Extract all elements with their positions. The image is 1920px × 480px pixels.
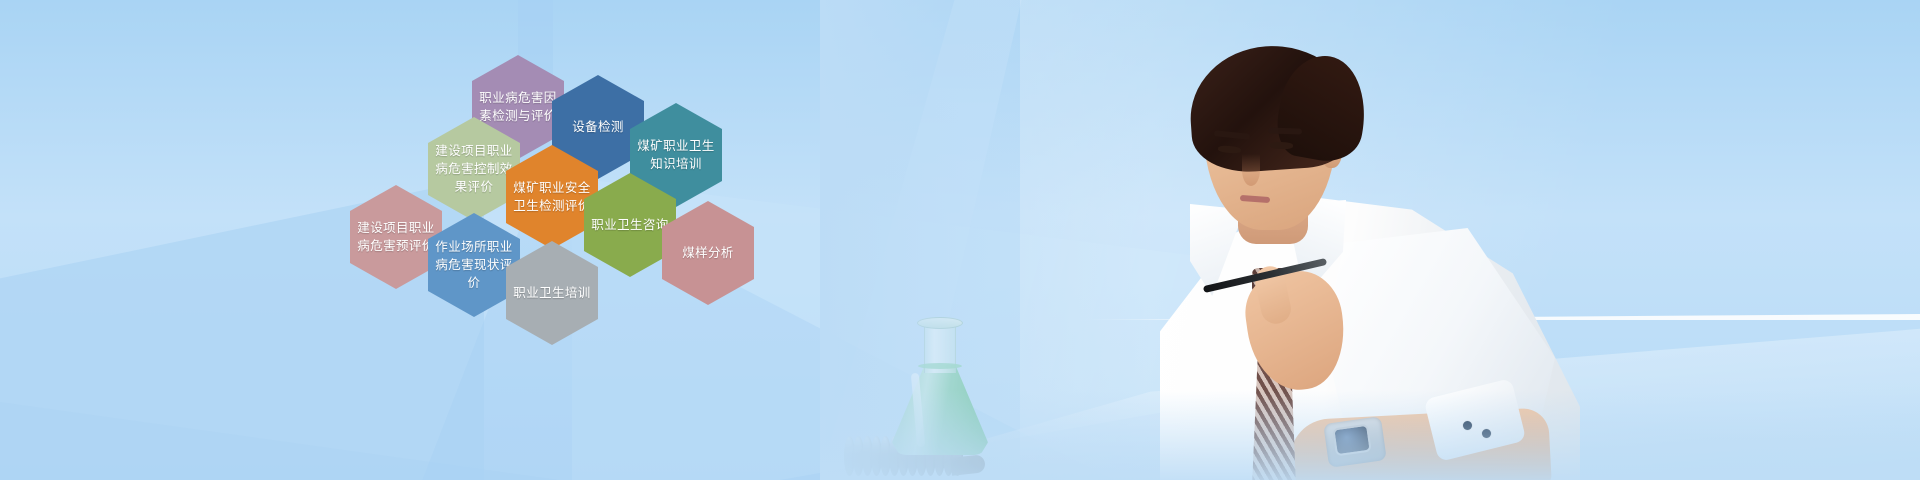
hex-construction-project-hazard-pre-evaluation-label: 建设项目职业病危害预评价 [356,219,436,255]
flask-body [892,365,988,455]
person-eyebrow-right [1268,127,1302,134]
person-cuff-button [1463,421,1472,430]
hex-equipment-inspection-label: 设备检测 [558,118,638,136]
occupational-health-services-hexagons: 职业病危害因素检测与评价设备检测煤矿职业卫生知识培训建设项目职业病危害控制效果评… [340,55,760,335]
flask-liquid-surface [918,363,962,369]
flask-lip [917,317,963,329]
hex-occupational-disease-hazard-factor-detection-label: 职业病危害因素检测与评价 [478,89,558,125]
hex-occupational-health-consulting-label: 职业卫生咨询 [590,216,670,234]
hex-workplace-occupational-disease-hazard-status-evaluation-label: 作业场所职业病危害现状评价 [434,238,514,291]
hex-coal-mine-occupational-health-knowledge-training-label: 煤矿职业卫生知识培训 [636,137,716,173]
conical-flask-icon [890,313,990,458]
person-eye-right [1270,142,1293,150]
hex-coal-sample-analysis-label: 煤样分析 [668,244,748,262]
banner-hero: 职业病危害因素检测与评价设备检测煤矿职业卫生知识培训建设项目职业病危害控制效果评… [0,0,1920,480]
person-wristwatch-face [1332,424,1372,457]
person-nose [1242,154,1260,186]
hex-construction-project-hazard-control-effect-evaluation-label: 建设项目职业病危害控制效果评价 [434,142,514,195]
hex-coal-mine-occupational-safety-health-detection-evaluation-label: 煤矿职业安全卫生检测评价 [512,179,592,215]
person-cuff-button [1482,429,1491,438]
hex-occupational-health-training-label: 职业卫生培训 [512,284,592,302]
person-figure [1130,28,1630,480]
background-facet-lower-left [0,350,560,480]
laboratory-scientist-photo [820,0,1920,480]
